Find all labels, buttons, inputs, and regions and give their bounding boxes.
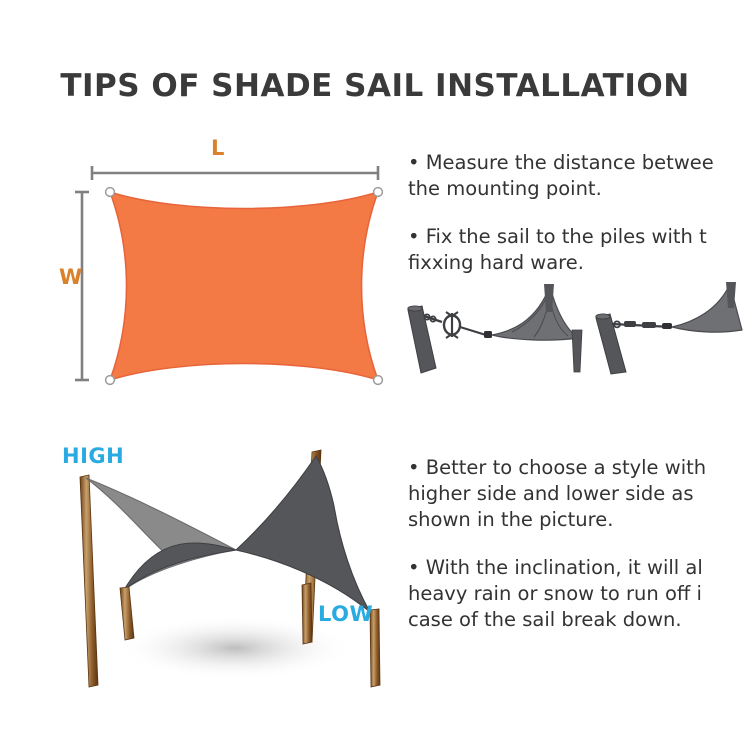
label-low: LOW [318, 602, 373, 626]
hardware-illustrations [400, 282, 750, 374]
tip-bullet-inclination: • With the inclination, it will al heavy… [408, 555, 750, 633]
sail-dark-gray-wing [124, 543, 236, 590]
hardware-assembly-turnbuckle [408, 284, 582, 373]
tip-bullet-fix-sail: • Fix the sail to the piles with t fixxi… [408, 224, 750, 276]
grommet-top-right [374, 188, 383, 197]
dimension-label-length: L [211, 136, 224, 160]
tip-line: higher side and lower side as [408, 481, 750, 507]
label-high: HIGH [62, 444, 124, 468]
grommet-bottom-left [106, 376, 115, 385]
sail-dimension-diagram: L W [60, 140, 410, 400]
infographic-root: TIPS OF SHADE SAIL INSTALLATION L W [0, 0, 750, 750]
length-dimension-line [92, 166, 378, 180]
dimension-label-width: W [59, 265, 82, 289]
post-high-left [80, 475, 98, 687]
tip-line: shown in the picture. [408, 507, 750, 533]
tip-line: • With the inclination, it will al [408, 555, 750, 581]
grommet-top-left [106, 188, 115, 197]
iso-sail-svg [40, 430, 415, 700]
tip-bullet-style-choice: • Better to choose a style with higher s… [408, 455, 750, 533]
iso-sail-diagram: HIGH LOW [40, 430, 415, 700]
orange-shade-sail [106, 188, 383, 385]
tip-line: the mounting point. [408, 176, 750, 202]
tips-top-text: • Measure the distance betwee the mounti… [408, 150, 750, 290]
post-low-middle [302, 583, 312, 644]
tip-line: • Better to choose a style with [408, 455, 750, 481]
sail-dimension-svg [60, 140, 410, 400]
hardware-svg [400, 282, 750, 374]
page-title: TIPS OF SHADE SAIL INSTALLATION [0, 68, 750, 104]
post-low-left [120, 587, 134, 640]
tip-line: • Fix the sail to the piles with t [408, 224, 750, 250]
tips-bottom-text: • Better to choose a style with higher s… [408, 455, 750, 655]
tip-line: • Measure the distance betwee [408, 150, 750, 176]
tip-bullet-measure: • Measure the distance betwee the mounti… [408, 150, 750, 202]
sail-light-gray [86, 478, 236, 590]
tip-line: heavy rain or snow to run off i [408, 581, 750, 607]
grommet-bottom-right [374, 376, 383, 385]
tip-line: case of the sail break down. [408, 607, 750, 633]
hardware-assembly-cable [596, 282, 742, 374]
tip-line: fixxing hard ware. [408, 250, 750, 276]
